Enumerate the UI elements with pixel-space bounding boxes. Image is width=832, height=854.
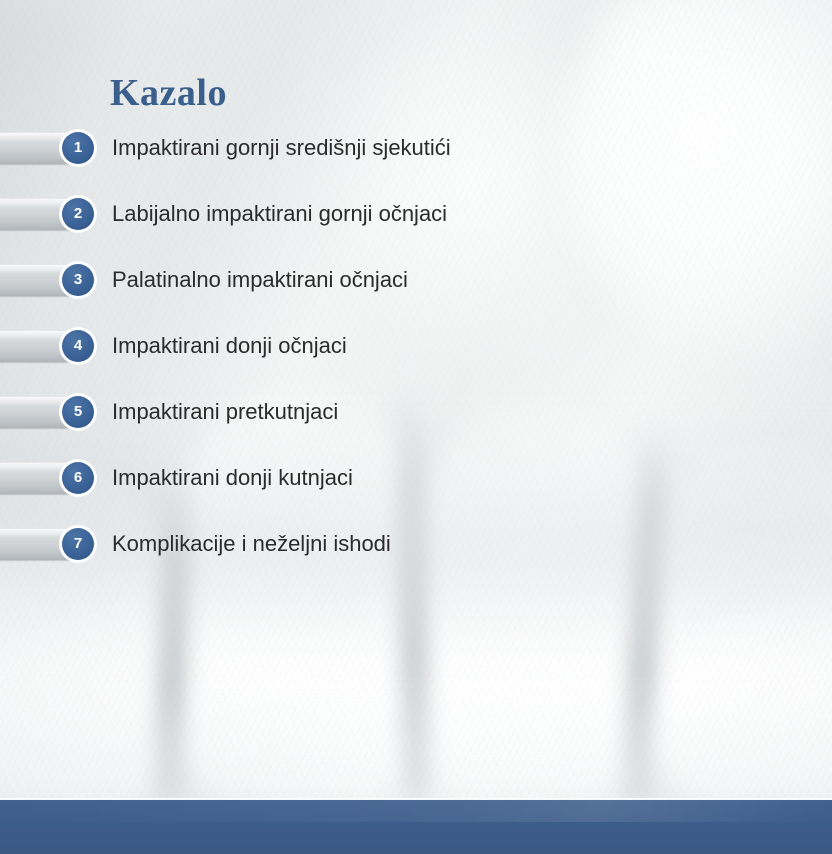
page-title: Kazalo (110, 72, 227, 114)
toc-entry[interactable]: 4 Impaktirani donji očnjaci (0, 328, 832, 364)
toc-number-badge: 7 (62, 528, 94, 560)
toc-number-badge: 5 (62, 396, 94, 428)
toc-entry-label[interactable]: Impaktirani donji očnjaci (112, 328, 347, 364)
toc-entry[interactable]: 7 Komplikacije i neželjni ishodi (0, 526, 832, 562)
toc-number-badge: 3 (62, 264, 94, 296)
page-content: Kazalo 1 Impaktirani gornji središnji sj… (0, 0, 832, 854)
toc-entry[interactable]: 3 Palatinalno impaktirani očnjaci (0, 262, 832, 298)
toc-entry-label[interactable]: Labijalno impaktirani gornji očnjaci (112, 196, 447, 232)
toc-page: Kazalo 1 Impaktirani gornji središnji sj… (0, 0, 832, 854)
toc-entry-label[interactable]: Komplikacije i neželjni ishodi (112, 526, 391, 562)
toc-entry-label[interactable]: Impaktirani gornji središnji sjekutići (112, 130, 451, 166)
toc-number-badge: 1 (62, 132, 94, 164)
footer-band-sheen (0, 800, 832, 822)
toc-entry[interactable]: 5 Impaktirani pretkutnjaci (0, 394, 832, 430)
toc-entry-label[interactable]: Impaktirani donji kutnjaci (112, 460, 353, 496)
toc-entry-label[interactable]: Impaktirani pretkutnjaci (112, 394, 338, 430)
footer-band (0, 800, 832, 854)
toc-entry[interactable]: 6 Impaktirani donji kutnjaci (0, 460, 832, 496)
toc-number-badge: 2 (62, 198, 94, 230)
toc-entry[interactable]: 2 Labijalno impaktirani gornji očnjaci (0, 196, 832, 232)
toc-number-badge: 6 (62, 462, 94, 494)
toc-entry-label[interactable]: Palatinalno impaktirani očnjaci (112, 262, 408, 298)
toc-entry[interactable]: 1 Impaktirani gornji središnji sjekutići (0, 130, 832, 166)
toc-number-badge: 4 (62, 330, 94, 362)
